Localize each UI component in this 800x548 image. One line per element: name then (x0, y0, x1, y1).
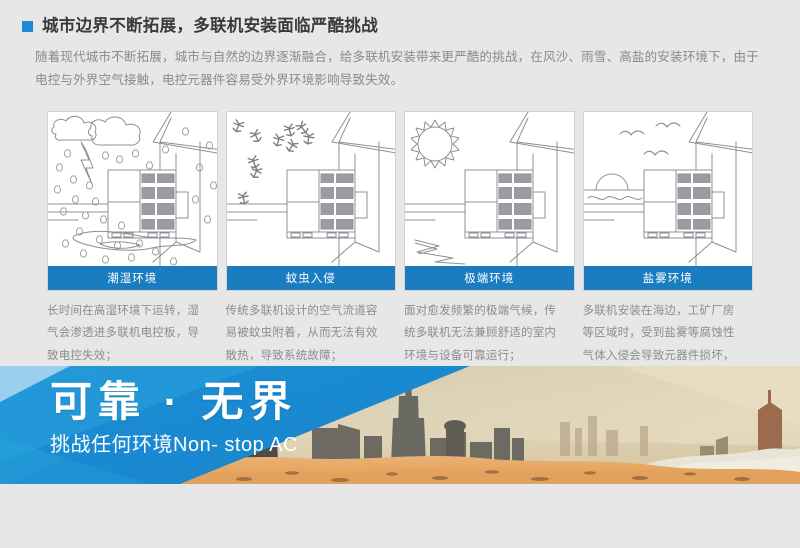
banner-title: 可靠 · 无界 (50, 380, 298, 424)
salt-spray-seaside-illustration (584, 112, 753, 266)
insect-invasion-illustration (227, 112, 396, 266)
rainy-humid-environment-illustration (48, 112, 217, 266)
bottom-promo-banner: 可靠 · 无界 挑战任何环境Non- stop AC (0, 366, 800, 484)
page-heading: 城市边界不断拓展，多联机安装面临严酷挑战 (22, 18, 378, 35)
environment-card-salt-spray[interactable]: 盐雾环境 (583, 111, 754, 291)
card-caption-label: 极端环境 (405, 266, 574, 290)
environment-card-humid[interactable]: 潮湿环境 (47, 111, 218, 291)
page-title: 城市边界不断拓展，多联机安装面临严酷挑战 (42, 18, 378, 35)
card-caption-label: 蚊虫入侵 (227, 266, 396, 290)
banner-text-block: 可靠 · 无界 挑战任何环境Non- stop AC (50, 380, 298, 457)
card-caption-label: 盐雾环境 (584, 266, 753, 290)
page-root: 城市边界不断拓展，多联机安装面临严酷挑战 随着现代城市不断拓展，城市与自然的边界… (0, 0, 800, 548)
card-caption-label: 潮湿环境 (48, 266, 217, 290)
environment-card-insects[interactable]: 蚊虫入侵 (226, 111, 397, 291)
banner-subtitle: 挑战任何环境Non- stop AC (50, 428, 298, 457)
page-subtitle: 随着现代城市不断拓展，城市与自然的边界逐渐融合，给多联机安装带来更严酷的挑战，在… (35, 46, 770, 92)
extreme-heat-drought-illustration (405, 112, 574, 266)
environment-card-extreme[interactable]: 极端环境 (404, 111, 575, 291)
environment-card-list: 潮湿环境 (47, 111, 753, 291)
heading-square-marker-icon (22, 21, 33, 32)
